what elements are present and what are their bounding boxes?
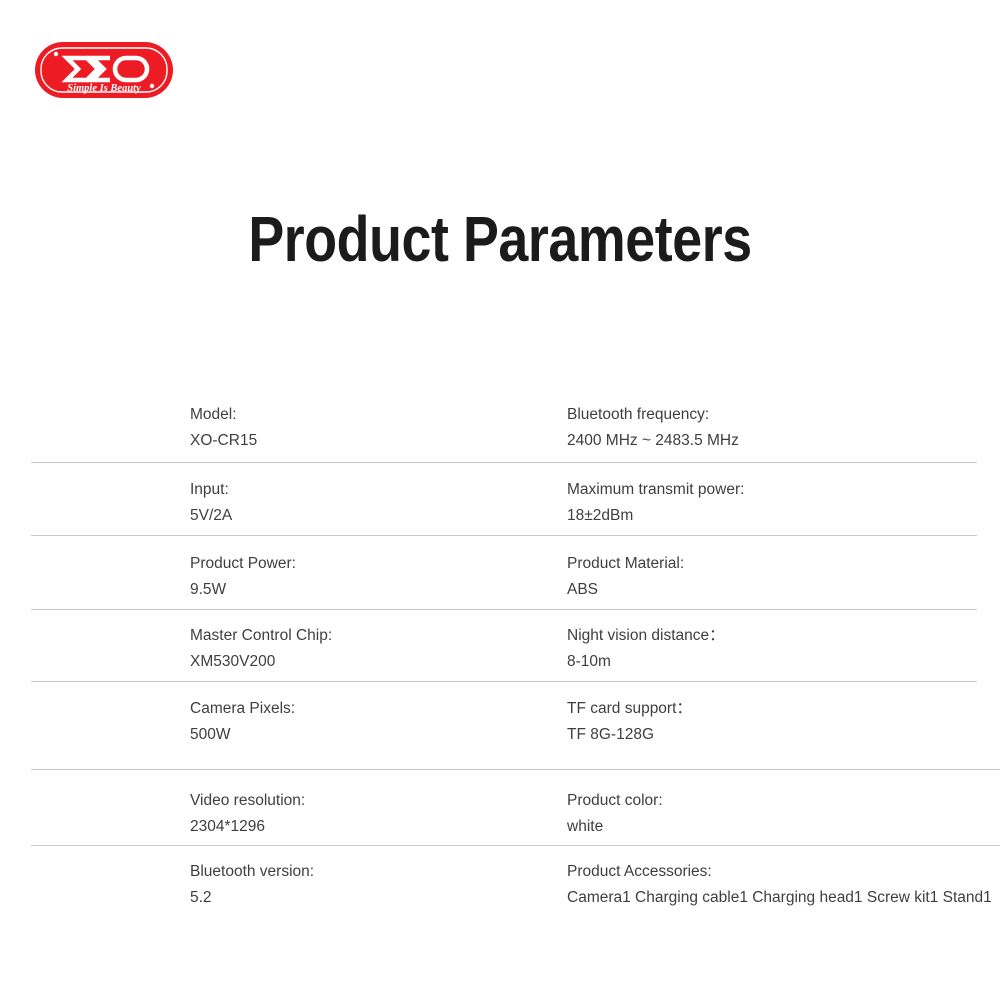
spec-label: TF card support：: [567, 700, 692, 718]
spec-label: Bluetooth version:: [190, 863, 314, 881]
spec-label: Maximum transmit power:: [567, 481, 744, 499]
table-row: Video resolution: 2304*1296: [190, 792, 305, 836]
spec-value: 5.2: [190, 889, 314, 907]
spec-label: Bluetooth frequency:: [567, 406, 739, 424]
table-row: Product Power: 9.5W: [190, 555, 296, 599]
spec-value: TF 8G-128G: [567, 726, 692, 744]
spec-value: white: [567, 818, 663, 836]
spec-label: Video resolution:: [190, 792, 305, 810]
table-row: Product Material: ABS: [567, 555, 684, 599]
spec-value: 5V/2A: [190, 507, 232, 525]
spec-label: Night vision distance：: [567, 627, 725, 645]
page-title: Product Parameters: [80, 196, 920, 282]
spec-value: Camera1 Charging cable1 Charging head1 S…: [567, 889, 992, 907]
row-divider: [31, 535, 977, 536]
table-row: Master Control Chip: XM530V200: [190, 627, 332, 671]
spec-value: ABS: [567, 581, 684, 599]
table-row: Night vision distance： 8-10m: [567, 627, 725, 671]
spec-value: 8-10m: [567, 653, 725, 671]
table-row: Input: 5V/2A: [190, 481, 232, 525]
spec-value: 18±2dBm: [567, 507, 744, 525]
spec-value: 2400 MHz ~ 2483.5 MHz: [567, 432, 739, 450]
xo-logo-icon: Simple Is Beauty: [34, 41, 174, 99]
spec-value: 2304*1296: [190, 818, 305, 836]
spec-value: XM530V200: [190, 653, 332, 671]
table-row: Product color: white: [567, 792, 663, 836]
spec-label: Camera Pixels:: [190, 700, 295, 718]
spec-value: 500W: [190, 726, 295, 744]
spec-label: Input:: [190, 481, 232, 499]
spec-value: 9.5W: [190, 581, 296, 599]
spec-label: Master Control Chip:: [190, 627, 332, 645]
table-row: Maximum transmit power: 18±2dBm: [567, 481, 744, 525]
spec-label: Model:: [190, 406, 257, 424]
row-divider: [31, 769, 1000, 770]
spec-label: Product Material:: [567, 555, 684, 573]
brand-tagline-text: Simple Is Beauty: [67, 83, 141, 94]
row-divider: [31, 681, 977, 682]
spec-label: Product Accessories:: [567, 863, 992, 881]
table-row: Bluetooth version: 5.2: [190, 863, 314, 907]
row-divider: [31, 845, 1000, 846]
spec-label: Product color:: [567, 792, 663, 810]
table-row: Model: XO-CR15: [190, 406, 257, 450]
row-divider: [31, 462, 977, 463]
table-row: Bluetooth frequency: 2400 MHz ~ 2483.5 M…: [567, 406, 739, 450]
table-row: Product Accessories: Camera1 Charging ca…: [567, 863, 992, 907]
table-row: Camera Pixels: 500W: [190, 700, 295, 744]
table-row: TF card support： TF 8G-128G: [567, 700, 692, 744]
spec-label: Product Power:: [190, 555, 296, 573]
brand-logo: Simple Is Beauty: [34, 41, 174, 99]
row-divider: [31, 609, 977, 610]
spec-value: XO-CR15: [190, 432, 257, 450]
